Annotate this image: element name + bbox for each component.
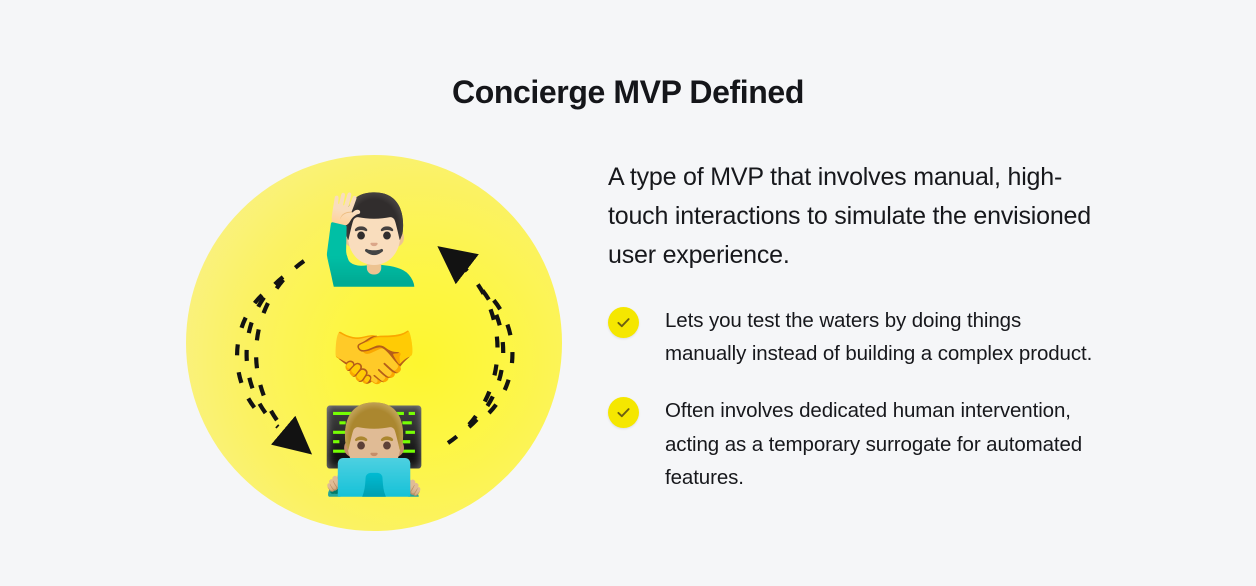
technologist-laptop-emoji: 👨🏼‍💻 [186, 407, 562, 493]
page-title: Concierge MVP Defined [0, 73, 1256, 111]
handshake-emoji: 🤝 [186, 321, 562, 393]
bullet-text: Often involves dedicated human intervent… [665, 394, 1105, 494]
concierge-cycle-diagram: 🙋🏻‍♂️ 🤝 👨🏼‍💻 [186, 155, 562, 531]
benefit-bullet-list: Lets you test the waters by doing things… [608, 304, 1108, 494]
check-circle-icon [608, 397, 639, 428]
bullet-text: Lets you test the waters by doing things… [665, 304, 1105, 370]
person-raising-hand-emoji: 🙋🏻‍♂️ [186, 197, 562, 283]
definition-content: A type of MVP that involves manual, high… [608, 158, 1108, 494]
list-item: Often involves dedicated human intervent… [608, 394, 1108, 494]
list-item: Lets you test the waters by doing things… [608, 304, 1108, 370]
check-circle-icon [608, 307, 639, 338]
definition-lead-paragraph: A type of MVP that involves manual, high… [608, 158, 1098, 275]
